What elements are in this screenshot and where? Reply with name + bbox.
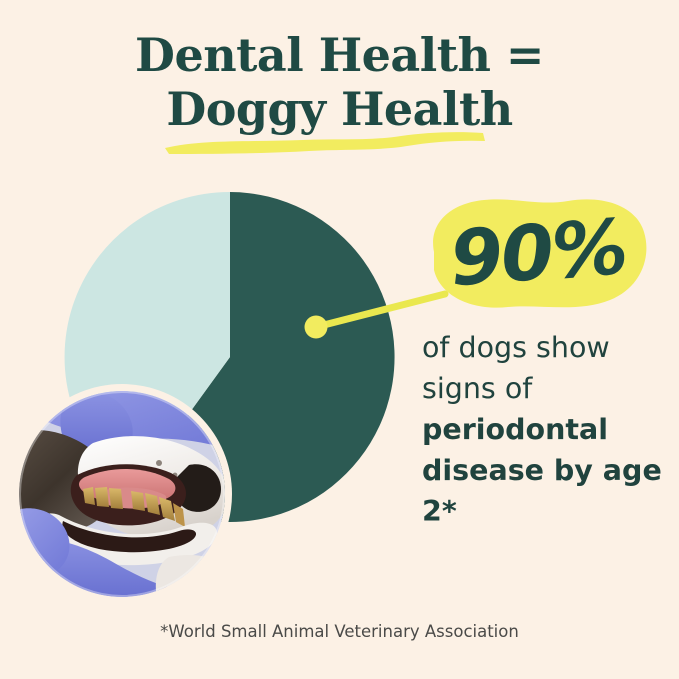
title-line-1: Dental Health = <box>0 28 679 82</box>
percent-callout: 90% <box>418 192 658 314</box>
dog-teeth-photo-illustration <box>19 391 225 597</box>
dog-teeth-photo <box>19 391 225 597</box>
title-line-2: Doggy Health <box>0 82 679 136</box>
page-title: Dental Health = Doggy Health <box>0 28 679 136</box>
dog-chin <box>156 555 225 597</box>
description-bold-text: periodontal disease by age 2* <box>422 413 662 528</box>
percent-value: 90% <box>414 184 662 322</box>
description-regular-text: of dogs show signs of <box>422 331 610 405</box>
leader-line-dot <box>305 316 328 339</box>
callout-description: of dogs show signs of periodontal diseas… <box>422 327 666 532</box>
footnote-source: *World Small Animal Veterinary Associati… <box>0 622 679 641</box>
infographic-canvas: Dental Health = Doggy Health 90% of dogs… <box>0 0 679 679</box>
muzzle-spot <box>156 460 162 466</box>
